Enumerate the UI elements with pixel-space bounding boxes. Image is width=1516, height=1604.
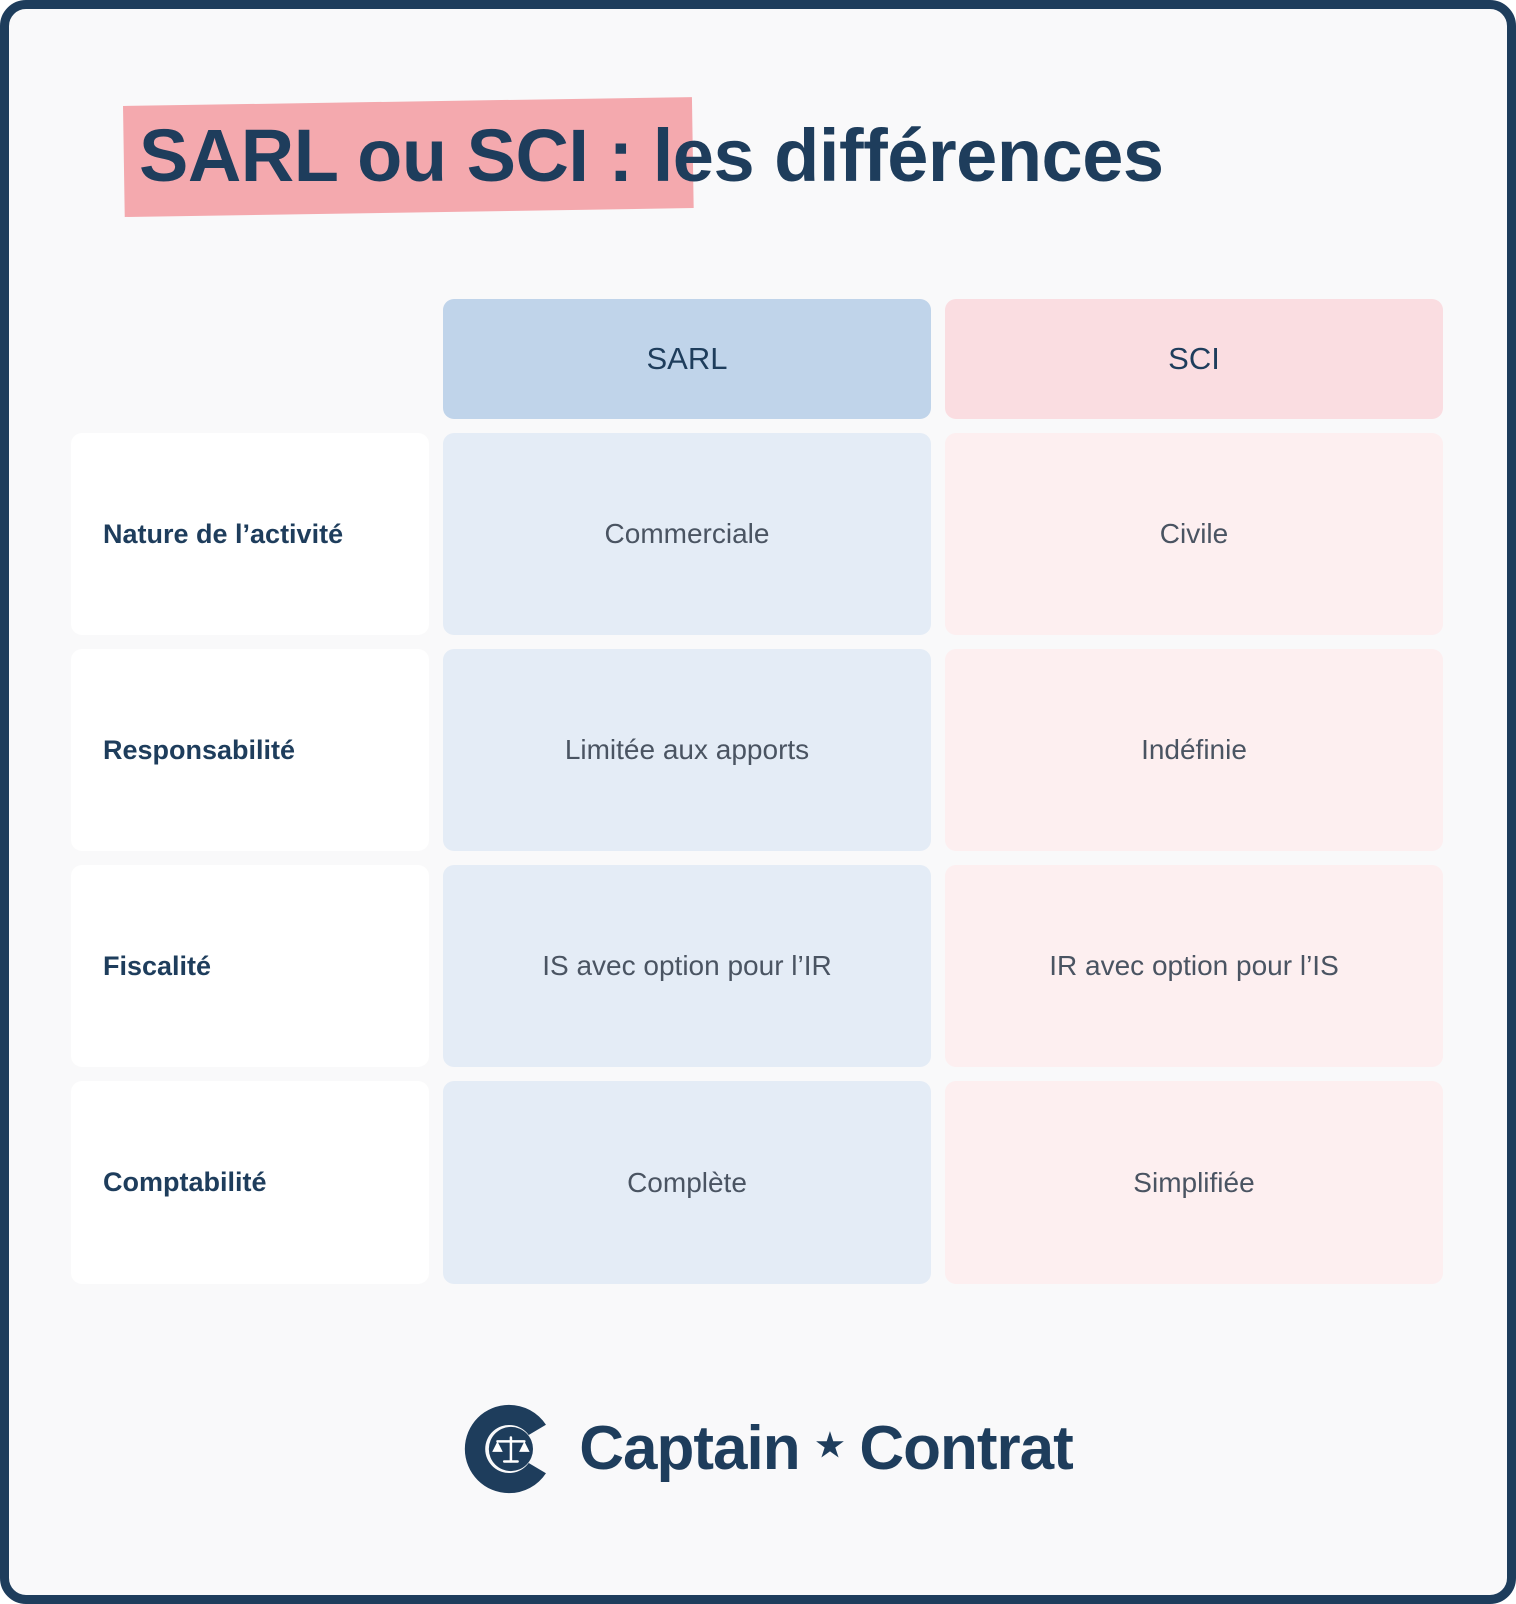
row-label-comptabilite: Comptabilité	[71, 1081, 429, 1284]
row-label-nature-activite: Nature de l’activité	[71, 433, 429, 635]
brand-name-second: Contrat	[859, 1401, 1072, 1497]
brand-logo: Captain ★ Contrat	[9, 1401, 1516, 1497]
row-label-fiscalite: Fiscalité	[71, 865, 429, 1067]
cell-sci-fiscalite: IR avec option pour l’IS	[945, 865, 1443, 1067]
column-header-sci: SCI	[945, 299, 1443, 419]
table-row: Fiscalité IS avec option pour l’IR IR av…	[71, 865, 1463, 1067]
title-rest-text: : les différences	[588, 114, 1163, 197]
header-corner-cell	[71, 299, 429, 419]
table-header-row: SARL SCI	[71, 299, 1463, 419]
table-row: Comptabilité Complète Simplifiée	[71, 1081, 1463, 1284]
cell-sarl-comptabilite: Complète	[443, 1081, 931, 1284]
star-icon: ★	[816, 1429, 844, 1461]
title-highlighted-text: SARL ou SCI	[139, 114, 588, 197]
comparison-table: SARL SCI Nature de l’activité Commercial…	[71, 299, 1463, 1298]
title-text: SARL ou SCI : les différences	[139, 91, 1479, 221]
page-title: SARL ou SCI : les différences	[9, 91, 1516, 221]
cell-sci-responsabilite: Indéfinie	[945, 649, 1443, 851]
cell-sarl-fiscalite: IS avec option pour l’IR	[443, 865, 931, 1067]
brand-name-first: Captain	[579, 1401, 799, 1497]
cell-sarl-nature-activite: Commerciale	[443, 433, 931, 635]
brand-wordmark: Captain ★ Contrat	[579, 1401, 1072, 1497]
cell-sci-comptabilite: Simplifiée	[945, 1081, 1443, 1284]
row-label-responsabilite: Responsabilité	[71, 649, 429, 851]
infographic-card: SARL ou SCI : les différences SARL SCI N…	[0, 0, 1516, 1604]
cell-sci-nature-activite: Civile	[945, 433, 1443, 635]
column-header-sarl: SARL	[443, 299, 931, 419]
cell-sarl-responsabilite: Limitée aux apports	[443, 649, 931, 851]
table-row: Responsabilité Limitée aux apports Indéf…	[71, 649, 1463, 851]
table-row: Nature de l’activité Commerciale Civile	[71, 433, 1463, 635]
captain-contrat-logo-icon	[461, 1401, 557, 1497]
